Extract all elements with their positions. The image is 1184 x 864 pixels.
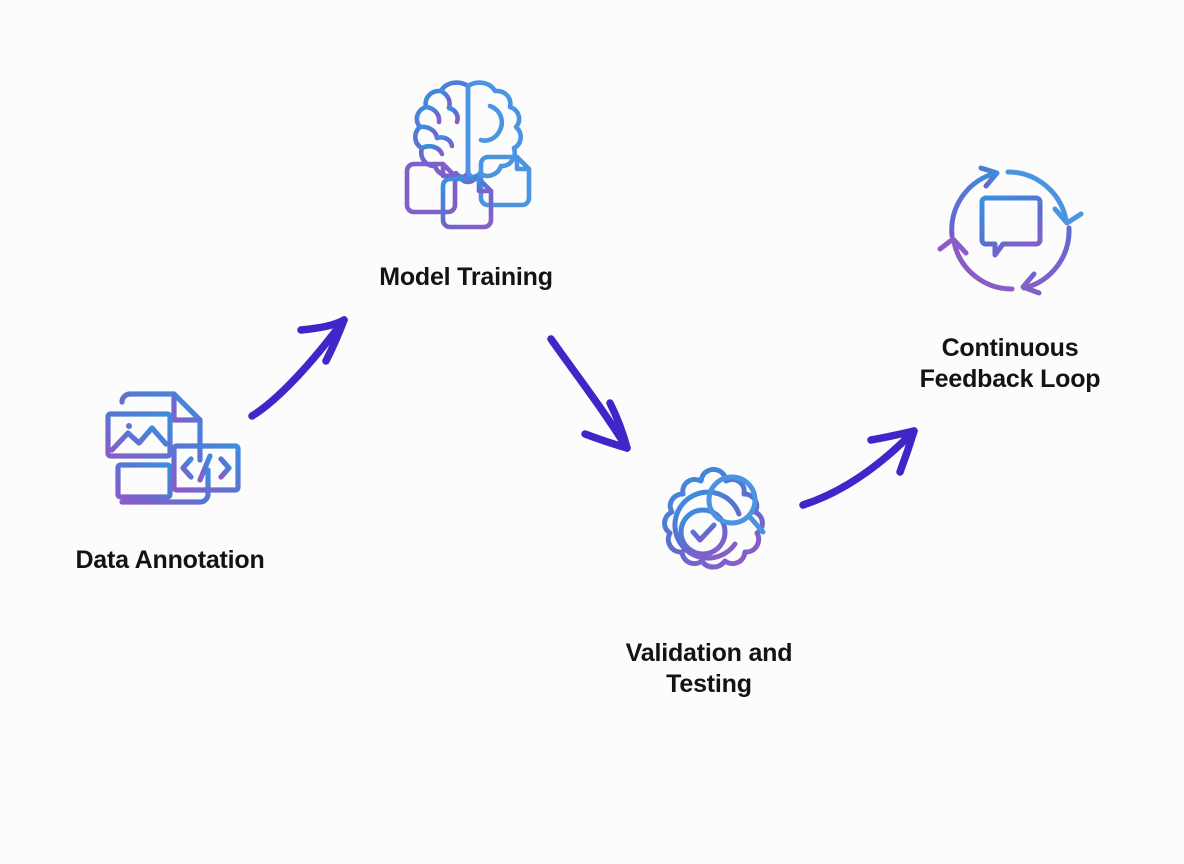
connector-arrow-3 <box>803 431 914 505</box>
gear-checkmark-magnifier-icon <box>643 462 779 588</box>
brain-documents-icon <box>393 72 543 220</box>
node-label-validation-testing: Validation and Testing <box>549 638 869 699</box>
node-label-data-annotation: Data Annotation <box>10 545 330 576</box>
node-label-feedback-loop: Continuous Feedback Loop <box>850 333 1170 394</box>
connector-arrow-2 <box>551 339 627 448</box>
node-label-model-training: Model Training <box>306 262 626 293</box>
speech-bubble-cycle-icon <box>938 158 1083 303</box>
document-annotation-icon <box>98 378 248 503</box>
connector-arrow-1 <box>252 320 344 416</box>
